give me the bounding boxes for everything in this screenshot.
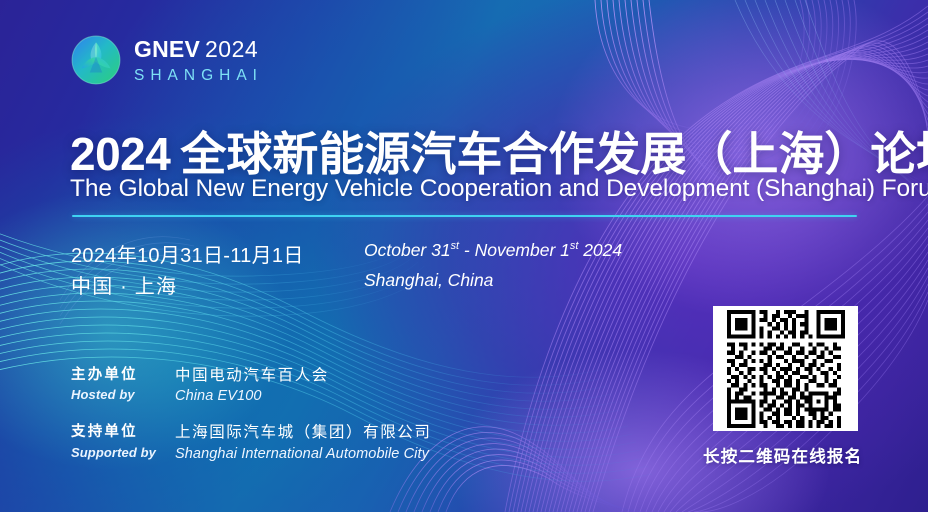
event-poster: GNEV2024 SHANGHAI 2024全球新能源汽车合作发展（上海）论坛 … [0,0,928,512]
qr-code-caption: 长按二维码在线报名 [703,443,848,467]
host-name-english: China EV100 [175,388,329,404]
supporter-label-english: Supported by [71,445,175,460]
qr-code-icon[interactable] [727,310,845,428]
gnev-tri-leaf-emblem-icon [70,34,122,86]
supporter-label-chinese: 支持单位 [71,423,175,441]
brand-name: GNEV [134,36,200,62]
date-en-mid: - November 1 [459,240,570,260]
event-date-english: October 31st - November 1st 2024 [364,240,622,261]
supporter-name-chinese: 上海国际汽车城（集团）有限公司 [175,423,432,442]
organiser-value-supporter: 上海国际汽车城（集团）有限公司 Shanghai International A… [175,423,432,461]
organiser-label-supporter: 支持单位 Supported by [71,423,175,459]
event-city-chinese: 中国 · 上海 [71,270,177,299]
date-en-ordinal-1: st [451,240,459,252]
title-year: 2024 [70,128,170,180]
event-date-chinese: 2024年10月31日-11月1日 [71,239,304,268]
host-name-chinese: 中国电动汽车百人会 [175,366,329,385]
organiser-label-host: 主办单位 Hosted by [71,366,175,402]
date-en-suffix: 2024 [578,240,622,260]
brand-logo-text: GNEV2024 SHANGHAI [134,36,263,84]
brand-name-line: GNEV2024 [134,38,263,61]
organiser-row-host: 主办单位 Hosted by 中国电动汽车百人会 China EV100 [71,366,432,404]
brand-city: SHANGHAI [134,68,263,84]
organiser-value-host: 中国电动汽车百人会 China EV100 [175,366,329,404]
page-subtitle: The Global New Energy Vehicle Cooperatio… [70,175,928,203]
title-divider [72,215,857,217]
event-city-english: Shanghai, China [364,270,493,291]
title-chinese: 全球新能源汽车合作发展（上海）论坛 [180,128,928,180]
qr-code-card[interactable] [713,306,858,431]
host-label-english: Hosted by [71,387,175,402]
brand-year: 2024 [205,36,258,62]
date-en-prefix: October 31 [364,240,451,260]
organiser-row-supporter: 支持单位 Supported by 上海国际汽车城（集团）有限公司 Shangh… [71,423,432,461]
brand-logo: GNEV2024 SHANGHAI [70,34,263,86]
host-label-chinese: 主办单位 [71,366,175,384]
organiser-list: 主办单位 Hosted by 中国电动汽车百人会 China EV100 支持单… [71,366,432,481]
supporter-name-english: Shanghai International Automobile City [175,446,432,462]
